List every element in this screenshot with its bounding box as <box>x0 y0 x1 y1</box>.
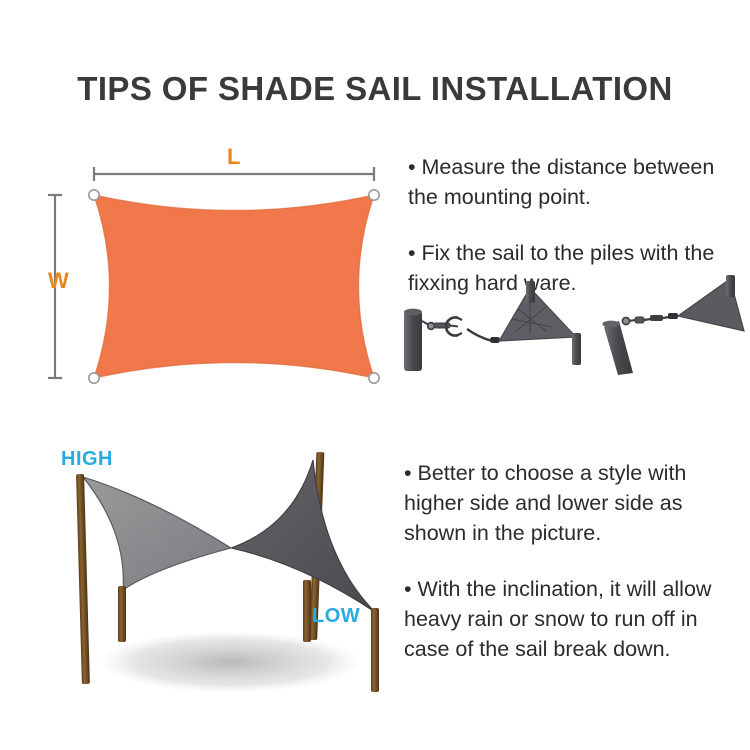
post-right <box>602 321 633 375</box>
tips-text-bottom: • Better to choose a style with higher s… <box>404 458 750 664</box>
sail-body <box>94 195 374 378</box>
width-label: W <box>48 268 69 294</box>
tip-line: • With the inclination, it will allow <box>404 574 750 604</box>
length-label: L <box>227 144 241 170</box>
tip-measure-distance: • Measure the distance between the mount… <box>408 152 750 212</box>
turnbuckle-right <box>622 313 678 325</box>
sail-corner-left <box>499 281 581 365</box>
low-label: LOW <box>312 605 360 628</box>
high-label: HIGH <box>61 448 113 471</box>
grommet-bottom-left <box>89 373 99 383</box>
infographic-page: TIPS OF SHADE SAIL INSTALLATION <box>0 0 750 750</box>
right-fitting <box>602 275 744 375</box>
grommet-bottom-right <box>369 373 379 383</box>
tip-line: case of the sail break down. <box>404 634 750 664</box>
pole-front-right <box>371 608 379 692</box>
post-left <box>404 309 422 371</box>
turnbuckle-left <box>434 317 462 336</box>
tip-line: the mounting point. <box>408 182 750 212</box>
d-ring-left <box>490 337 500 343</box>
pole-front-left <box>76 474 90 684</box>
grommet-top-left <box>89 190 99 200</box>
tip-choose-style: • Better to choose a style with higher s… <box>404 458 750 548</box>
ground-shadow <box>102 632 358 692</box>
hardware-svg <box>400 275 750 375</box>
tip-line: • Measure the distance between <box>408 152 750 182</box>
sail-svg <box>30 140 400 400</box>
tip-line: • Better to choose a style with <box>404 458 750 488</box>
pole-front-mid <box>118 586 126 642</box>
tip-line: shown in the picture. <box>404 518 750 548</box>
inclined-sail-diagram: HIGH LOW <box>35 440 405 705</box>
grommet-top-right <box>369 190 379 200</box>
tip-line: • Fix the sail to the piles with the <box>408 238 750 268</box>
snap-hook-left <box>422 321 434 329</box>
sail-light <box>83 477 231 590</box>
tip-inclination-runoff: • With the inclination, it will allow he… <box>404 574 750 664</box>
pole-rear-mid <box>303 580 311 642</box>
page-title: TIPS OF SHADE SAIL INSTALLATION <box>0 70 750 108</box>
rectangular-sail-diagram: L W <box>30 140 400 400</box>
fixing-hardware-illustrations <box>400 275 750 375</box>
sail-corner-right <box>678 275 744 331</box>
cable-left <box>467 329 492 341</box>
tip-line: higher side and lower side as <box>404 488 750 518</box>
tip-line: heavy rain or snow to run off in <box>404 604 750 634</box>
left-fitting <box>404 281 581 371</box>
hypar-svg <box>35 440 405 705</box>
